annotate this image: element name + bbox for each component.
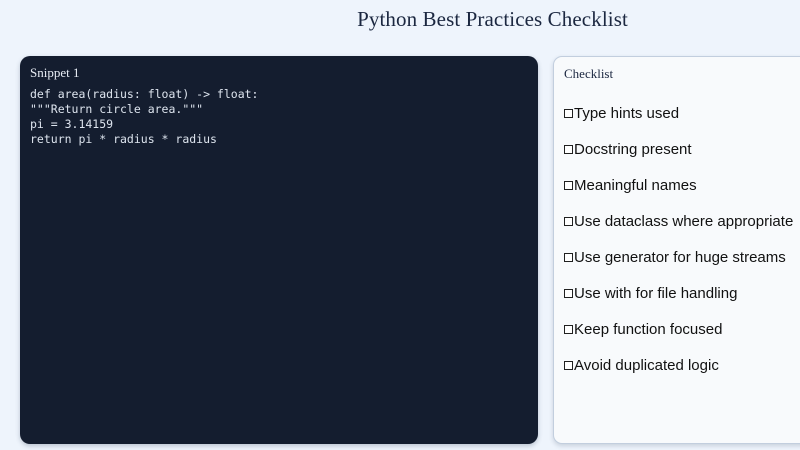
checklist-item-label: Keep function focused: [574, 321, 722, 338]
checkbox-icon[interactable]: [564, 181, 573, 190]
checklist-item-label: Meaningful names: [574, 177, 697, 194]
checklist-item-label: Use dataclass where appropriate: [574, 213, 793, 230]
checkbox-icon[interactable]: [564, 253, 573, 262]
checklist-item[interactable]: Use generator for huge streams: [564, 239, 800, 275]
page-title: Python Best Practices Checklist: [0, 7, 800, 32]
panels-container: Snippet 1 def area(radius: float) -> flo…: [20, 56, 800, 444]
code-block: def area(radius: float) -> float: """Ret…: [30, 87, 528, 147]
checkbox-icon[interactable]: [564, 289, 573, 298]
checkbox-icon[interactable]: [564, 325, 573, 334]
code-snippet-panel: Snippet 1 def area(radius: float) -> flo…: [20, 56, 538, 444]
checkbox-icon[interactable]: [564, 145, 573, 154]
checklist-item-label: Docstring present: [574, 141, 692, 158]
checkbox-icon[interactable]: [564, 217, 573, 226]
checklist-item-label: Use generator for huge streams: [574, 249, 786, 266]
checklist-item-label: Type hints used: [574, 105, 679, 122]
checklist-item[interactable]: Use with for file handling: [564, 275, 800, 311]
checklist-item[interactable]: Keep function focused: [564, 311, 800, 347]
checklist-item[interactable]: Avoid duplicated logic: [564, 347, 800, 383]
code-panel-title: Snippet 1: [30, 65, 528, 80]
checklist-title: Checklist: [564, 66, 800, 81]
checklist-item[interactable]: Type hints used: [564, 95, 800, 131]
checklist-panel: Checklist Type hints usedDocstring prese…: [553, 56, 800, 444]
checklist-item-label: Use with for file handling: [574, 285, 737, 302]
checkbox-icon[interactable]: [564, 361, 573, 370]
checklist-item[interactable]: Meaningful names: [564, 167, 800, 203]
checklist-items: Type hints usedDocstring presentMeaningf…: [564, 95, 800, 383]
checkbox-icon[interactable]: [564, 109, 573, 118]
checklist-item[interactable]: Docstring present: [564, 131, 800, 167]
checklist-item-label: Avoid duplicated logic: [574, 357, 719, 374]
checklist-item[interactable]: Use dataclass where appropriate: [564, 203, 800, 239]
